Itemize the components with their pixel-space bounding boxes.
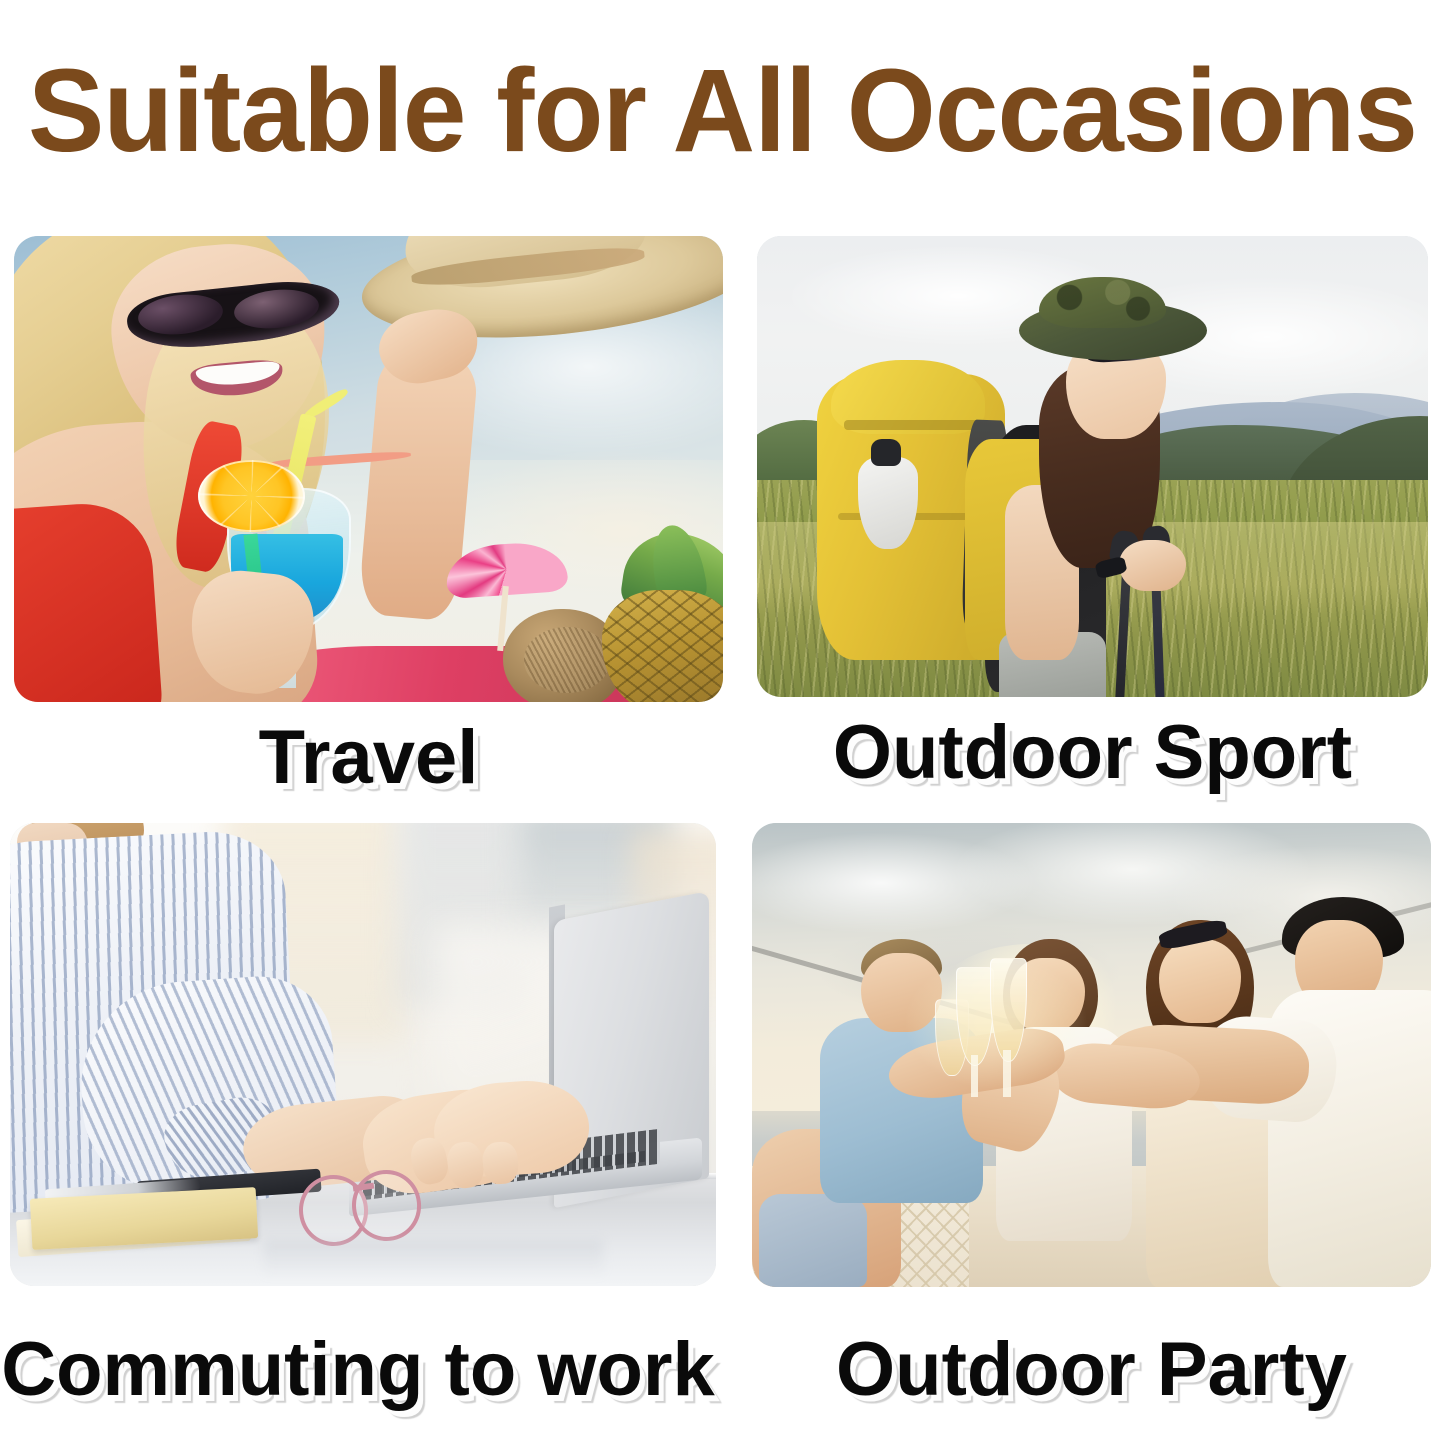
- occasion-card-travel[interactable]: [14, 236, 723, 702]
- occasion-label-outdoor-sport: Outdoor Sport: [757, 709, 1428, 796]
- outdoor-sport-photo: [757, 236, 1428, 697]
- commuting-to-work-photo: [10, 823, 716, 1286]
- occasion-card-commuting-to-work[interactable]: [10, 823, 716, 1286]
- occasions-grid: Travel: [0, 0, 1445, 1445]
- occasion-card-outdoor-party[interactable]: [752, 823, 1431, 1287]
- occasion-label-travel: Travel: [14, 714, 723, 801]
- travel-photo: [14, 236, 723, 702]
- outdoor-party-photo: [752, 823, 1431, 1287]
- occasion-label-commuting-to-work: Commuting to work: [0, 1326, 716, 1413]
- occasion-card-outdoor-sport[interactable]: [757, 236, 1428, 697]
- occasion-label-outdoor-party: Outdoor Party: [752, 1326, 1431, 1413]
